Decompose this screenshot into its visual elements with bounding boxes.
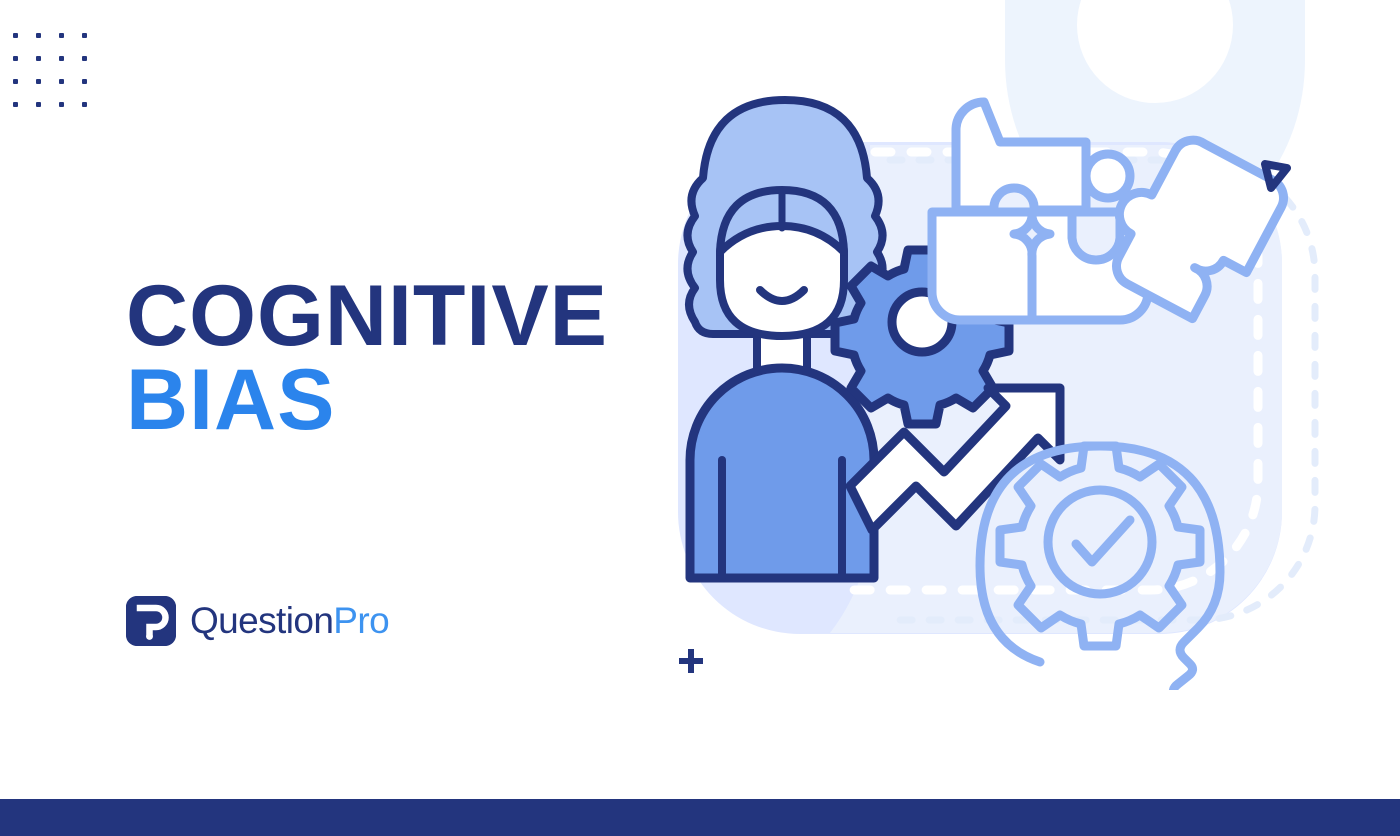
poster-canvas: COGNITIVE BIAS QuestionPro [0, 0, 1400, 836]
title-line-2: BIAS [126, 361, 608, 441]
dot-grid-dot [59, 79, 64, 84]
questionpro-logo-mark [126, 596, 176, 646]
logo-word-question: Question [190, 600, 333, 641]
plus-mark-decoration [676, 646, 706, 676]
dot-grid-dot [59, 33, 64, 38]
cognitive-bias-illustration [660, 0, 1400, 690]
dot-grid-dot [59, 102, 64, 107]
dot-grid-decoration [13, 33, 87, 107]
dot-grid-dot [36, 33, 41, 38]
title-line-1: COGNITIVE [126, 277, 608, 357]
dot-grid-dot [36, 79, 41, 84]
dot-grid-dot [59, 56, 64, 61]
questionpro-wordmark: QuestionPro [190, 600, 389, 642]
dot-grid-dot [82, 56, 87, 61]
dot-grid-dot [82, 33, 87, 38]
dot-grid-dot [36, 56, 41, 61]
dot-grid-dot [13, 56, 18, 61]
dot-grid-dot [82, 79, 87, 84]
puzzle-piece-bottom-left [932, 212, 1032, 320]
dot-grid-dot [13, 79, 18, 84]
bottom-accent-bar [0, 799, 1400, 836]
page-title: COGNITIVE BIAS [126, 277, 608, 441]
logo-word-pro: Pro [333, 600, 389, 641]
dot-grid-dot [82, 102, 87, 107]
dot-grid-dot [13, 102, 18, 107]
dot-grid-dot [36, 102, 41, 107]
dot-grid-dot [13, 33, 18, 38]
questionpro-logo[interactable]: QuestionPro [126, 596, 389, 646]
